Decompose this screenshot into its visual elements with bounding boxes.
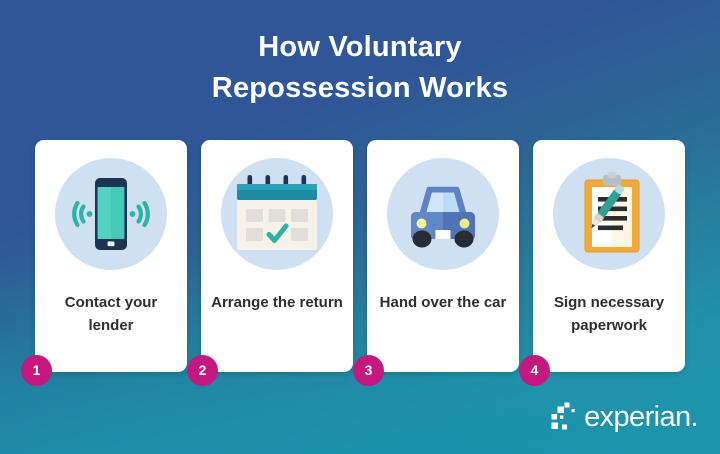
step-label: Contact your lender bbox=[43, 292, 179, 338]
step-label: Hand over the car bbox=[375, 292, 511, 315]
step-card-4: 4 Sign necessary paperwork bbox=[533, 140, 685, 372]
calendar-check-icon bbox=[221, 158, 333, 270]
step-2-icon-wrap bbox=[221, 158, 333, 270]
step-number-badge: 4 bbox=[519, 355, 550, 386]
step-card-2: 2 Arrange the return bbox=[201, 140, 353, 372]
step-card-3: 3 Hand over the car bbox=[367, 140, 519, 372]
title-line-2: Repossession Works bbox=[0, 68, 720, 109]
step-card-1: 1 Contact your lender bbox=[35, 140, 187, 372]
title-line-1: How Voluntary bbox=[0, 27, 720, 68]
step-4-icon-wrap bbox=[553, 158, 665, 270]
clipboard-pen-icon bbox=[553, 158, 665, 270]
step-number-badge: 2 bbox=[187, 355, 218, 386]
experian-dot-matrix-icon bbox=[551, 402, 577, 434]
step-number-badge: 1 bbox=[21, 355, 52, 386]
experian-wordmark: experian. bbox=[584, 403, 698, 432]
infographic-canvas: How Voluntary Repossession Works bbox=[0, 0, 720, 454]
experian-logo: experian. bbox=[551, 400, 698, 436]
steps-row: 1 Contact your lender bbox=[35, 140, 685, 372]
mobile-phone-ringing-icon bbox=[55, 158, 167, 270]
step-1-icon-wrap bbox=[55, 158, 167, 270]
page-title: How Voluntary Repossession Works bbox=[0, 27, 720, 109]
step-3-icon-wrap bbox=[387, 158, 499, 270]
step-number-badge: 3 bbox=[353, 355, 384, 386]
step-label: Arrange the return bbox=[209, 292, 345, 315]
car-front-icon bbox=[387, 158, 499, 270]
step-label: Sign necessary paperwork bbox=[541, 292, 677, 338]
